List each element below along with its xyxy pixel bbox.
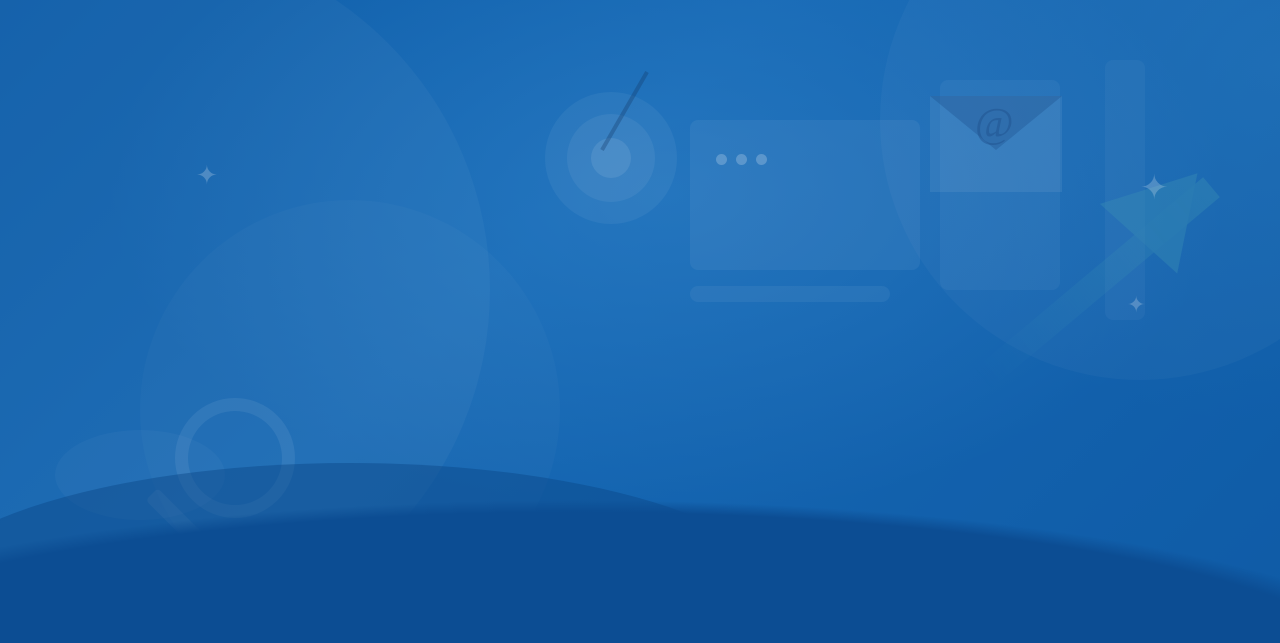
decorative-bar (690, 286, 890, 302)
background-decoration: @ ✦ ✦ ✦ (0, 0, 1280, 643)
decorative-growth-arrow-icon (990, 90, 1280, 420)
decorative-target-icon (545, 92, 677, 224)
landing-page: @ ✦ ✦ ✦ Текст-осмотр Диагностика эксперт… (0, 0, 1280, 643)
decorative-sparkle-icon: ✦ (196, 160, 218, 191)
decorative-wave (0, 403, 1280, 643)
decorative-browser-dots (716, 154, 767, 165)
decorative-sparkle-icon: ✦ (1140, 168, 1169, 208)
decorative-browser-card (690, 120, 920, 270)
decorative-sparkle-icon: ✦ (1127, 292, 1145, 318)
